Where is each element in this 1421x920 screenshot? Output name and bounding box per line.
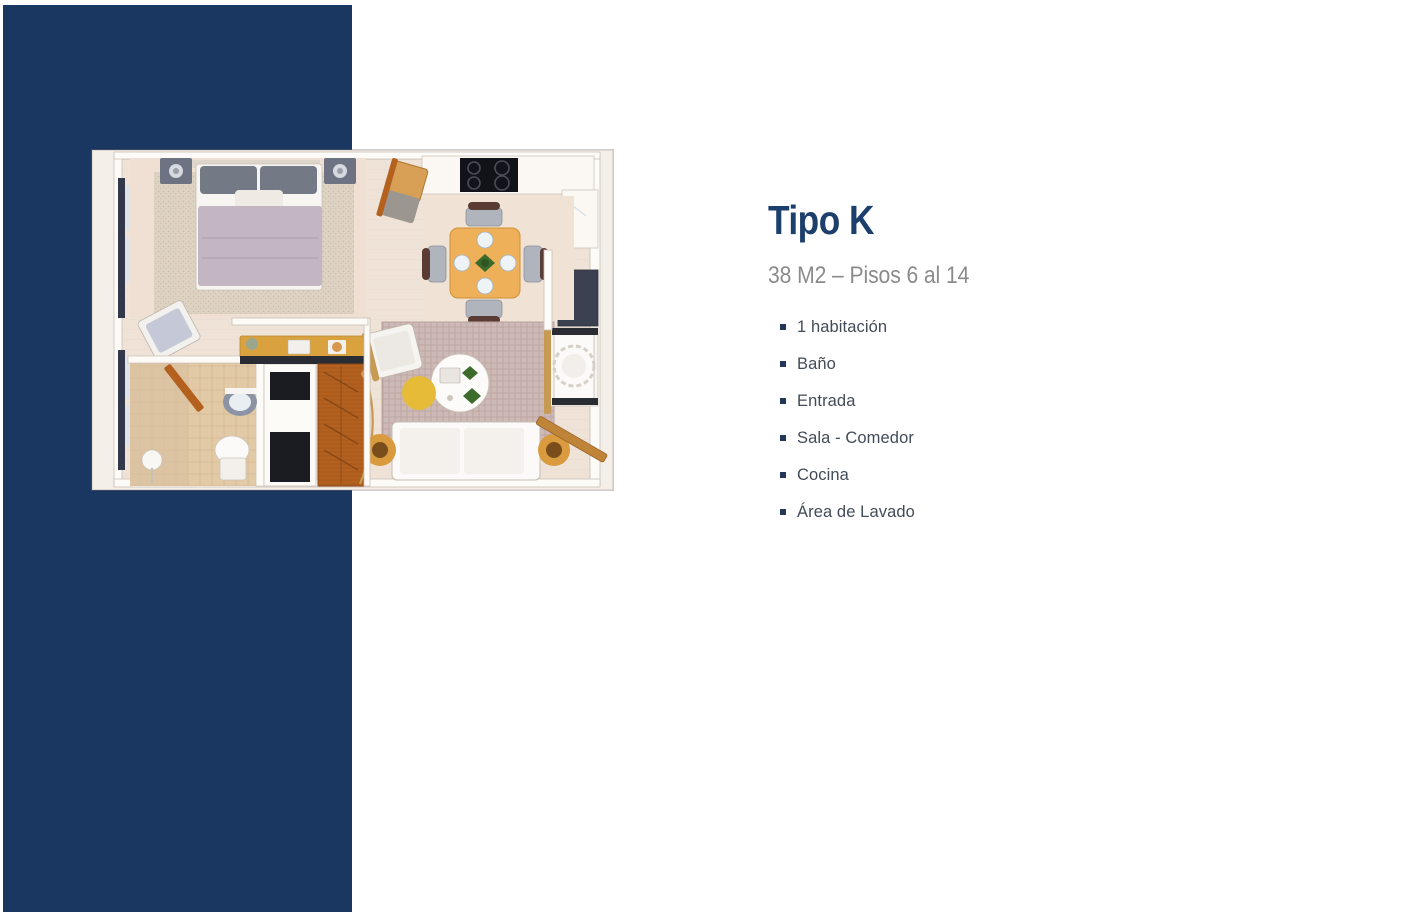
- unit-detail-column: Tipo K 38 M2 – Pisos 6 al 14 1 habitació…: [768, 196, 1328, 539]
- page-title: Tipo K: [768, 196, 1250, 244]
- floorplan-illustration: [92, 150, 613, 490]
- list-item: Cocina: [768, 465, 1328, 485]
- feature-label: Entrada: [797, 392, 856, 410]
- list-item: Sala - Comedor: [768, 428, 1328, 448]
- unit-subtitle: 38 M2 – Pisos 6 al 14: [768, 261, 1261, 291]
- floorplan-image: [92, 150, 613, 490]
- living-zone: [361, 321, 570, 480]
- square-bullet-icon: [780, 472, 786, 478]
- square-bullet-icon: [780, 398, 786, 404]
- feature-label: Cocina: [797, 466, 849, 484]
- bathroom-zone: [128, 356, 268, 486]
- feature-label: Sala - Comedor: [797, 429, 914, 447]
- list-item: Área de Lavado: [768, 502, 1328, 522]
- square-bullet-icon: [780, 435, 786, 441]
- list-item: Entrada: [768, 391, 1328, 411]
- square-bullet-icon: [780, 324, 786, 330]
- square-bullet-icon: [780, 509, 786, 515]
- square-bullet-icon: [780, 361, 786, 367]
- list-item: 1 habitación: [768, 317, 1328, 337]
- unit-feature-list: 1 habitación Baño Entrada Sala - Comedor…: [768, 317, 1328, 522]
- page-root: Tipo K 38 M2 – Pisos 6 al 14 1 habitació…: [0, 0, 1421, 920]
- list-item: Baño: [768, 354, 1328, 374]
- feature-label: Baño: [797, 355, 836, 373]
- feature-label: 1 habitación: [797, 318, 887, 336]
- feature-label: Área de Lavado: [797, 503, 915, 521]
